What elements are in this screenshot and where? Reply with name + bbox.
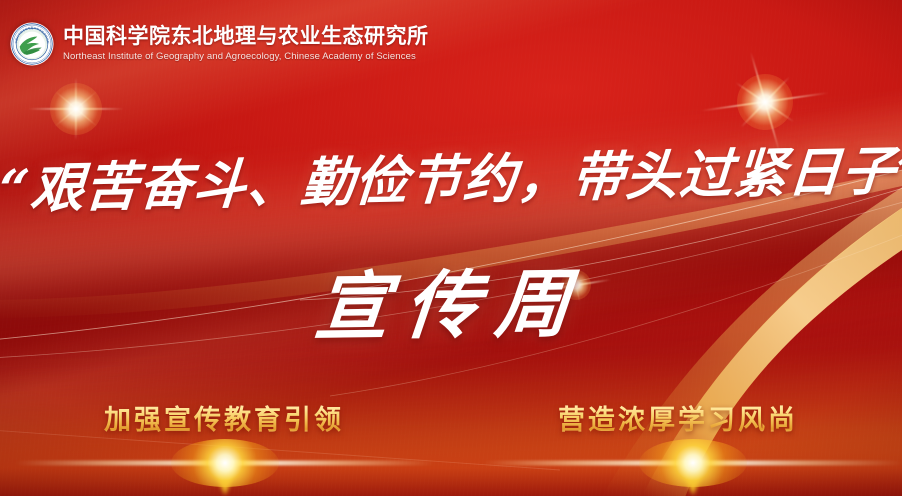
institute-name-en: Northeast Institute of Geography and Agr…: [63, 52, 429, 62]
slogan-left: 加强宣传教育引领: [104, 398, 344, 437]
subtitle-area: 宣传周: [0, 246, 902, 353]
institute-name-block: 中国科学院东北地理与农业生态研究所 Northeast Institute of…: [63, 26, 429, 62]
institute-name-cn: 中国科学院东北地理与农业生态研究所: [63, 26, 429, 47]
promo-banner: 中国科学院东北地理与农业生态研究所 中国科学院东北地理与农业生态研究所 Nort…: [0, 0, 902, 496]
subtitle: 宣传周: [311, 244, 591, 355]
cas-niga-globe-logo-icon: 中国科学院东北地理与农业生态研究所: [10, 22, 54, 66]
slogan-row: 加强宣传教育引领 营造浓厚学习风尚: [0, 398, 902, 437]
institute-header: 中国科学院东北地理与农业生态研究所 中国科学院东北地理与农业生态研究所 Nort…: [10, 22, 429, 66]
main-title: “艰苦奋斗、勤俭节约，带头过紧日子”: [0, 128, 902, 223]
main-title-area: “艰苦奋斗、勤俭节约，带头过紧日子”: [0, 138, 902, 214]
slogan-right: 营造浓厚学习风尚: [558, 398, 798, 437]
